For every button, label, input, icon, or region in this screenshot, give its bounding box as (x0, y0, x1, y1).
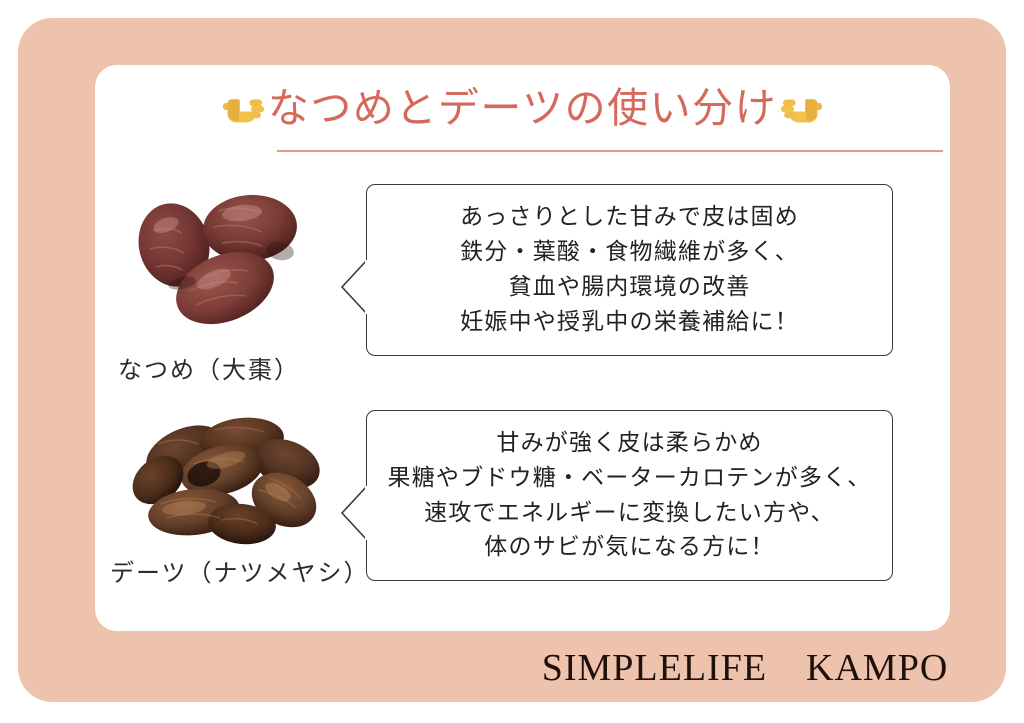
bubble-line: 甘みが強く皮は柔らかめ (496, 426, 762, 461)
page-title: なつめとデーツの使い分け (268, 85, 777, 132)
dates-caption: デーツ（ナツメヤシ） (110, 553, 370, 588)
brand-footer: SIMPLELIFE KAMPO (520, 636, 970, 691)
bubble-line: 妊娠中や授乳中の栄養補給に！ (460, 305, 799, 340)
bubble-line: 体のサビが気になる方に！ (484, 530, 774, 565)
pointing-left-hand-icon (779, 89, 823, 129)
jujube-info-bubble: あっさりとした甘みで皮は固め 鉄分・葉酸・食物繊維が多く、 貧血や腸内環境の改善… (366, 184, 893, 356)
dates-info-bubble: 甘みが強く皮は柔らかめ 果糖やブドウ糖・ベーターカロテンが多く、 速攻でエネルギ… (366, 410, 893, 581)
bubble-line: 速攻でエネルギーに変換したい方や、 (424, 496, 835, 531)
jujube-bubble-tail (340, 259, 368, 315)
dates-photo (122, 412, 332, 552)
bubble-line: 鉄分・葉酸・食物繊維が多く、 (460, 235, 799, 270)
dates-bubble-tail (340, 485, 368, 541)
jujube-photo (122, 183, 332, 333)
bubble-line: 果糖やブドウ糖・ベーターカロテンが多く、 (388, 461, 872, 496)
poster-root: なつめとデーツの使い分け (0, 0, 1024, 723)
bubble-line: 貧血や腸内環境の改善 (509, 270, 751, 305)
jujube-caption: なつめ（大棗） (118, 350, 300, 385)
title-block: なつめとデーツの使い分け (95, 85, 950, 134)
title-underline (277, 150, 943, 152)
pointing-right-hand-icon (222, 89, 266, 129)
bubble-line: あっさりとした甘みで皮は固め (460, 200, 799, 235)
